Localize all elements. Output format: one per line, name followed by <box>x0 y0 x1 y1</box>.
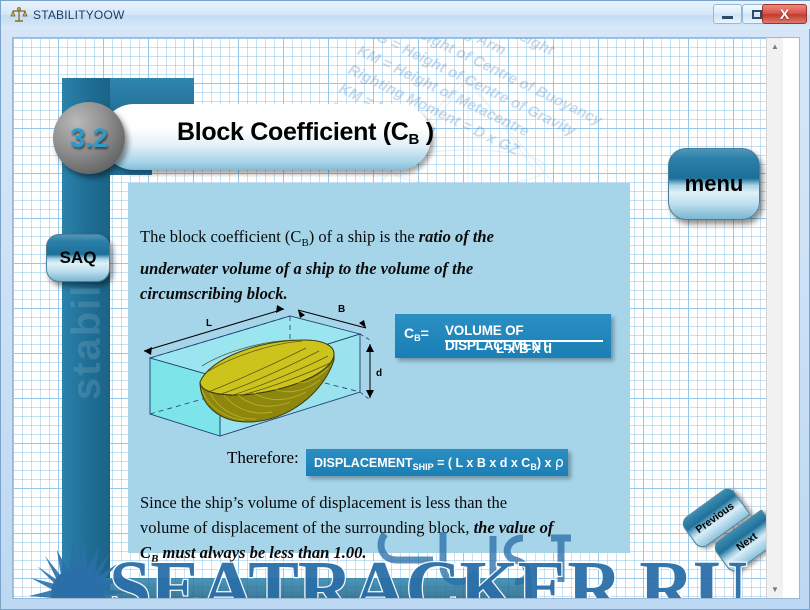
scales-icon <box>10 6 28 24</box>
displacement-rhs-pre: = ( L x B x d x C <box>434 456 531 470</box>
minimize-icon <box>714 5 741 23</box>
scroll-up-icon[interactable]: ▲ <box>767 38 783 55</box>
intro-text-part2: ) of a ship is the <box>309 227 419 246</box>
displacement-formula-box: DISPLACEMENTSHIP = ( L x B x d x CB) x ρ <box>306 449 568 476</box>
formula-equals: = <box>421 325 429 341</box>
saq-button-label: SAQ <box>60 248 97 268</box>
diagram-label-draft: d <box>376 368 382 379</box>
diagram-label-length: L <box>206 318 212 329</box>
menu-button[interactable]: menu <box>668 148 760 220</box>
section-title-banner: Block Coefficient (CB ) <box>101 104 431 170</box>
minimize-button[interactable] <box>713 4 742 24</box>
diagram-label-breadth: B <box>338 304 345 315</box>
formula-lhs: CB= <box>404 325 429 343</box>
section-number-badge: 3.2 <box>53 102 125 174</box>
site-watermark: SEATRACKER.RU <box>109 550 747 598</box>
intro-paragraph: The block coefficient (CB) of a ship is … <box>140 224 552 306</box>
menu-button-label: menu <box>685 171 744 197</box>
block-coefficient-formula-box: CB= VOLUME OF DISPLACEMENT L x B x d <box>395 314 611 358</box>
page-title-subscript: B <box>409 131 420 148</box>
saq-button[interactable]: SAQ <box>46 234 110 282</box>
sidebar-vertical-label: stability <box>65 186 110 446</box>
page-title: Block Coefficient (CB ) <box>177 118 434 148</box>
close-button[interactable]: X <box>762 4 807 24</box>
client-area: G = Centre of Gravity B = Centre of Buoy… <box>12 37 800 599</box>
formula-denominator: L x B x d <box>445 341 603 356</box>
window-title: STABILITYOOW <box>33 6 125 24</box>
displacement-rho-symbol: ρ <box>555 455 564 471</box>
page-title-tail: ) <box>419 118 434 146</box>
scroll-down-icon[interactable]: ▼ <box>767 581 783 598</box>
intro-text-part1: The block coefficient (C <box>140 227 301 246</box>
formula-lhs-symbol: C <box>404 325 414 341</box>
therefore-label: Therefore: <box>227 448 299 468</box>
displacement-rhs-post: ) x <box>537 456 555 470</box>
displacement-formula-text: DISPLACEMENTSHIP = ( L x B x d x CB) x ρ <box>314 455 564 472</box>
block-coefficient-3d-diagram: L B d <box>138 296 388 451</box>
close-icon: X <box>763 5 806 23</box>
intro-subscript-b: B <box>301 237 308 249</box>
application-window: STABILITYOOW X G = Centre <box>0 0 810 610</box>
title-bar: STABILITYOOW X <box>1 1 810 29</box>
displacement-lhs-subscript: SHIP <box>413 462 434 472</box>
vertical-scrollbar[interactable]: ▲ ▼ <box>766 38 783 598</box>
lesson-page: G = Centre of Gravity B = Centre of Buoy… <box>13 38 783 598</box>
page-title-main: Block Coefficient (C <box>177 118 409 146</box>
section-number-label: 3.2 <box>53 102 125 174</box>
displacement-lhs: DISPLACEMENT <box>314 456 413 470</box>
